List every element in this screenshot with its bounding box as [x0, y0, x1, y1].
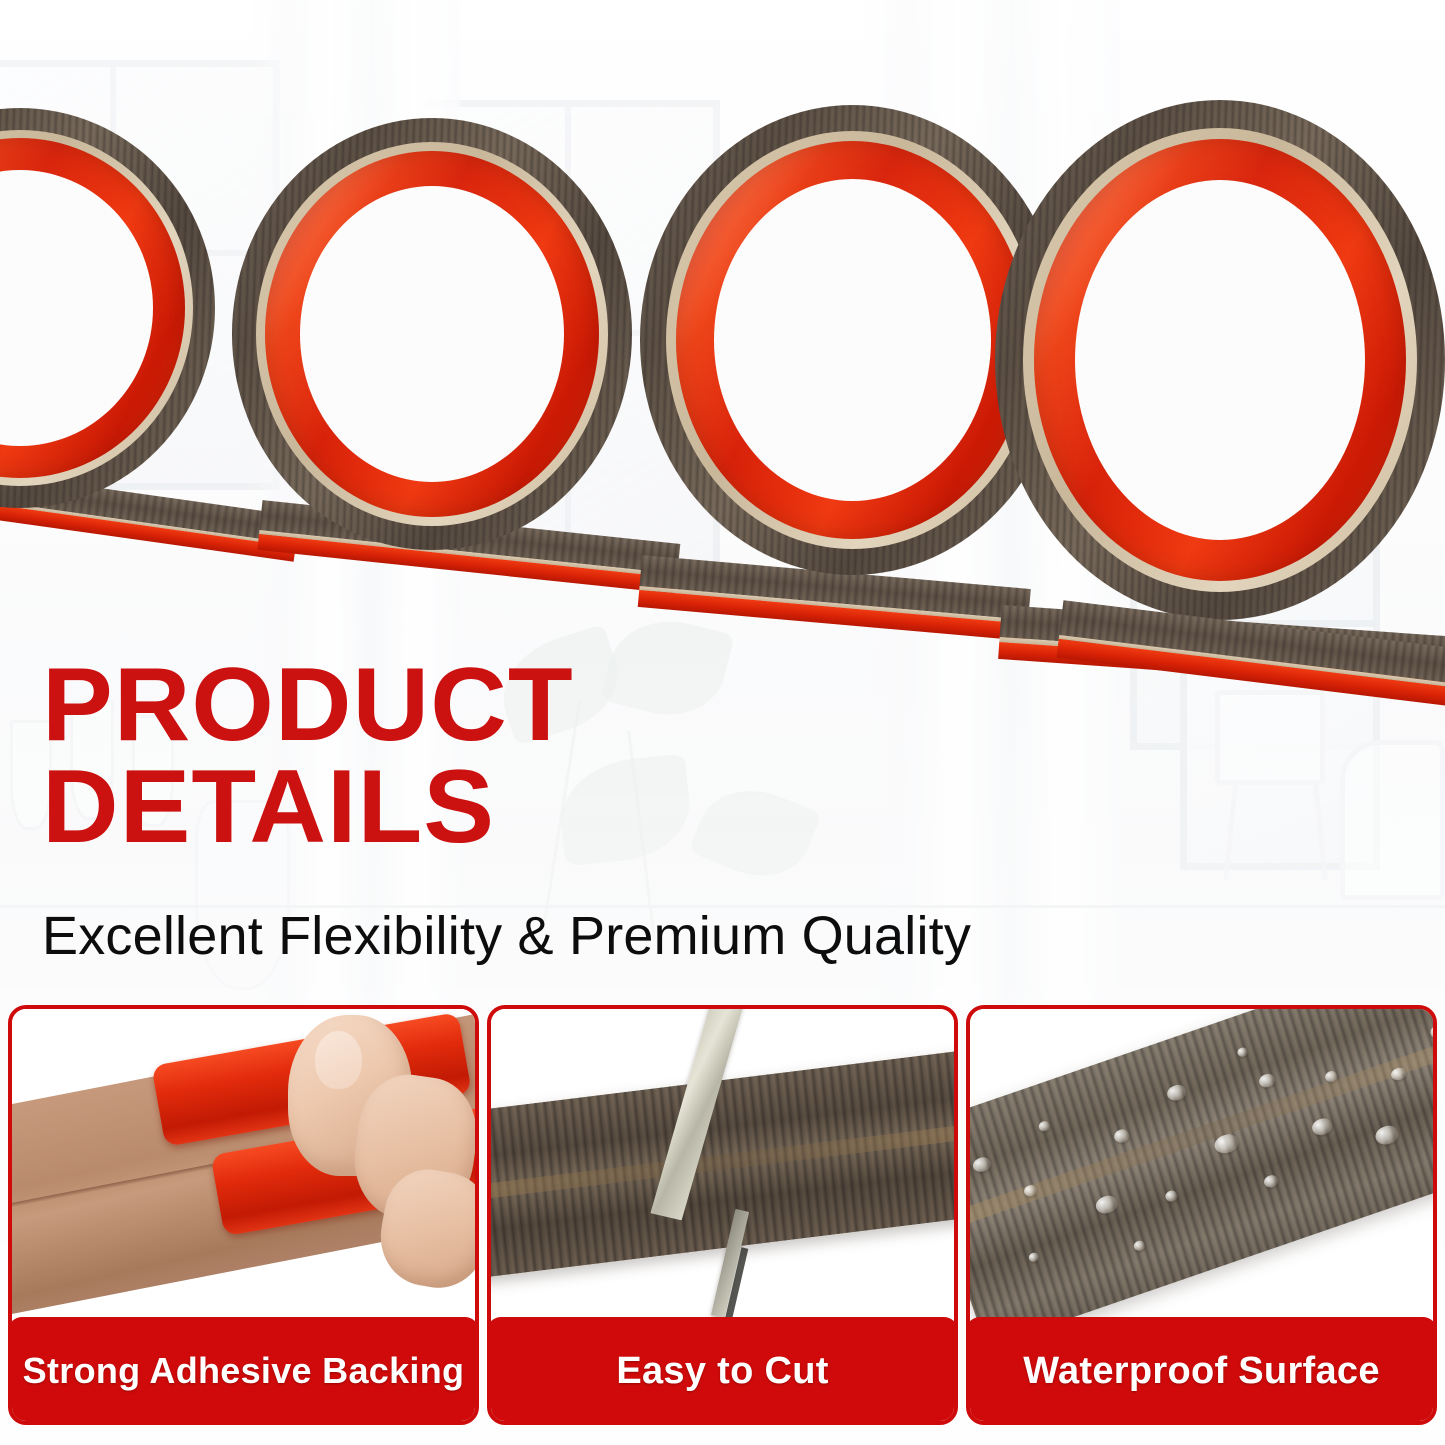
page-title-line-2: DETAILS — [42, 757, 960, 859]
caption-adhesive: Strong Adhesive Backing — [8, 1317, 479, 1425]
feature-panel-waterproof[interactable]: Waterproof Surface — [966, 1005, 1437, 1425]
cutting-photo — [491, 1009, 954, 1331]
water-droplet-group — [970, 1009, 1433, 1331]
thumbnail — [315, 1031, 362, 1089]
water-droplet — [1389, 1066, 1407, 1082]
page-title-line-1: PRODUCT — [42, 647, 574, 763]
water-droplet — [1164, 1189, 1179, 1203]
water-droplet — [1429, 1023, 1433, 1042]
water-droplet — [1133, 1239, 1147, 1252]
water-droplet — [1262, 1174, 1279, 1190]
product-detail-infographic: PRODUCT DETAILS Excellent Flexibility & … — [0, 0, 1445, 1445]
water-droplet — [1323, 1070, 1338, 1084]
water-droplet — [1258, 1072, 1277, 1090]
woodgrain-strip — [491, 1046, 954, 1281]
water-droplet — [1027, 1251, 1039, 1263]
water-droplet — [1022, 1183, 1038, 1198]
hero-product-image — [0, 0, 1445, 700]
water-droplet — [971, 1155, 993, 1174]
product-coil — [995, 100, 1445, 620]
adhesive-photo — [12, 1009, 475, 1331]
waterproof-photo — [970, 1009, 1433, 1331]
water-droplet — [1212, 1132, 1241, 1157]
water-droplet — [1165, 1083, 1188, 1103]
water-droplet — [1310, 1117, 1334, 1139]
page-title: PRODUCT DETAILS — [42, 655, 960, 859]
caption-cut: Easy to Cut — [487, 1317, 958, 1425]
water-droplet — [1236, 1047, 1248, 1059]
caption-waterproof: Waterproof Surface — [966, 1317, 1437, 1425]
feature-panel-group: Strong Adhesive Backing Easy to Cut — [0, 1005, 1445, 1425]
page-subtitle: Excellent Flexibility & Premium Quality — [42, 905, 971, 967]
hand-illustration — [271, 1015, 475, 1292]
feature-panel-adhesive[interactable]: Strong Adhesive Backing — [8, 1005, 479, 1425]
product-coil — [0, 108, 215, 508]
woodgrain-strip-wet — [970, 1009, 1433, 1331]
water-droplet — [1094, 1193, 1120, 1216]
water-droplet — [1373, 1123, 1401, 1148]
water-droplet — [1037, 1120, 1051, 1133]
feature-panel-cut[interactable]: Easy to Cut — [487, 1005, 958, 1425]
water-droplet — [1113, 1127, 1131, 1144]
product-coil — [232, 118, 632, 550]
